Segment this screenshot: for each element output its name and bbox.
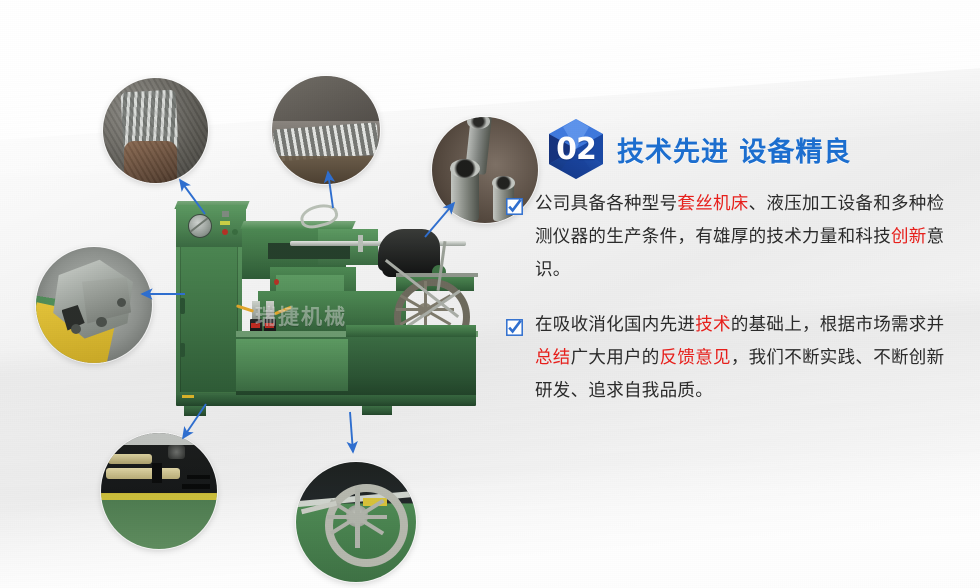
banner-page: 瑞捷机械 xyxy=(0,0,980,588)
highlighted-text: 套丝机床 xyxy=(677,194,748,214)
feature-point-1-text: 公司具备各种型号套丝机床、液压加工设备和多种检测仪器的生产条件，有雄厚的技术力量… xyxy=(535,194,944,280)
plain-text: 公司具备各种型号 xyxy=(535,194,677,214)
photo-watermark: 瑞捷机械 xyxy=(255,301,435,331)
plain-text: 的基础上，根据市场需求并 xyxy=(731,315,945,335)
checkbox-checked-icon xyxy=(506,315,523,332)
feature-point-2-text: 在吸收消化国内先进技术的基础上，根据市场需求并总结广大用户的反馈意见，我们不断实… xyxy=(535,315,944,401)
content-column: 02 技术先进 设备精良 公司具备各种型号套丝机床、液压加工设备和多种检测仪器的… xyxy=(505,112,960,408)
callout-threading-die-head xyxy=(36,247,152,363)
plain-text: 在吸收消化国内先进 xyxy=(535,315,695,335)
section-headline: 02 技术先进 设备精良 xyxy=(505,112,960,186)
section-number-badge: 02 xyxy=(545,118,607,180)
highlighted-text: 总结 xyxy=(535,348,571,368)
section-number-text: 02 xyxy=(545,118,607,180)
callout-handwheel xyxy=(296,462,416,582)
feature-point-2: 在吸收消化国内先进技术的基础上，根据市场需求并总结广大用户的反馈意见，我们不断实… xyxy=(505,309,960,408)
callout-hydraulic-valve-block xyxy=(101,433,217,549)
highlighted-text: 技术 xyxy=(695,315,731,335)
callout-rolled-thread xyxy=(272,76,380,184)
highlighted-text: 反馈意见 xyxy=(660,348,731,368)
section-title: 技术先进 设备精良 xyxy=(617,130,851,169)
callout-threaded-rod-end xyxy=(103,78,208,183)
highlighted-text: 创新 xyxy=(891,227,927,247)
checkbox-checked-icon xyxy=(506,194,523,211)
plain-text: 广大用户的 xyxy=(571,348,660,368)
feature-point-1: 公司具备各种型号套丝机床、液压加工设备和多种检测仪器的生产条件，有雄厚的技术力量… xyxy=(505,188,960,287)
